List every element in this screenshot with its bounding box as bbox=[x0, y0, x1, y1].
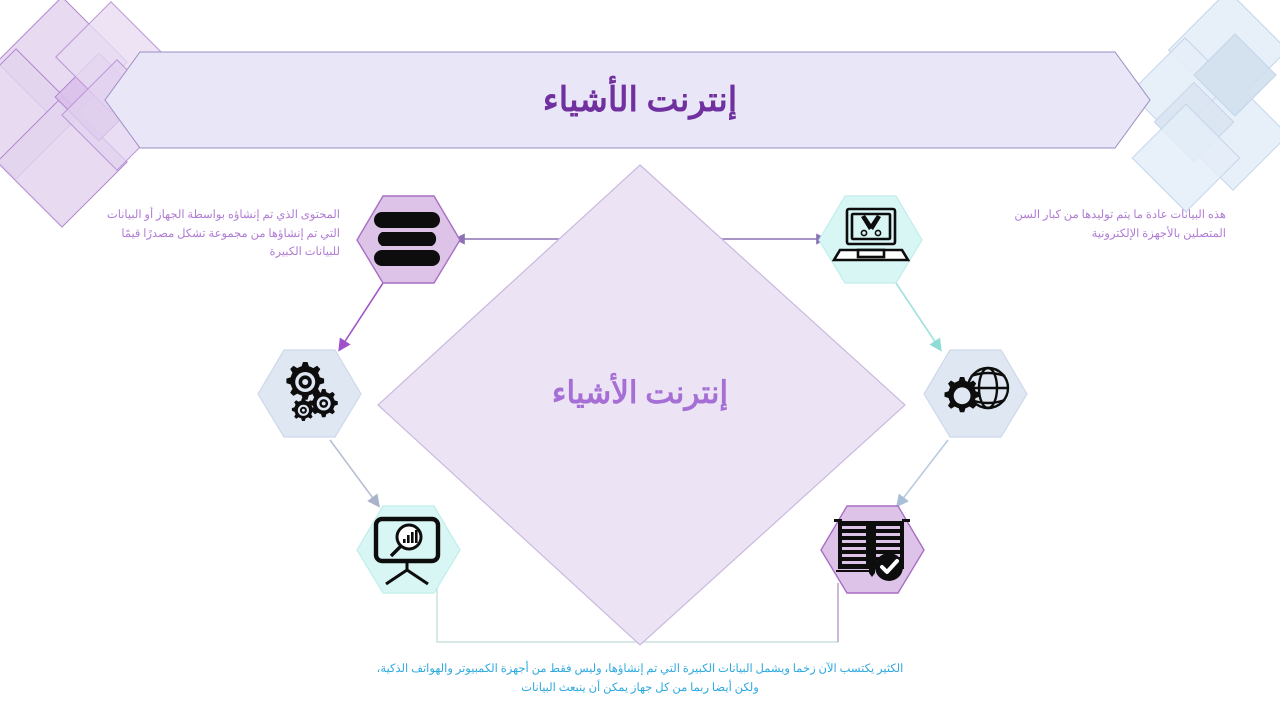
node-database[interactable] bbox=[357, 196, 460, 283]
node-gear-globe[interactable] bbox=[924, 350, 1027, 437]
note-bottom-line-2: ولكن أيضا ربما من كل جهاز يمكن أن ينبعث … bbox=[290, 679, 990, 698]
note-right-line-1: هذه البيانات عادة ما يتم توليدها من كبار… bbox=[932, 206, 1226, 225]
gear-globe-icon-gear bbox=[945, 377, 980, 412]
note-right: هذه البيانات عادة ما يتم توليدها من كبار… bbox=[932, 206, 1226, 243]
note-left: المحتوى الذي تم إنشاؤه بواسطة الجهاز أو … bbox=[28, 206, 340, 262]
title-banner: إنترنت الأشياء bbox=[140, 52, 1140, 148]
connector-database-to-gears bbox=[340, 283, 383, 349]
node-document-check[interactable] bbox=[821, 506, 924, 593]
center-diamond-label: إنترنت الأشياء bbox=[440, 375, 840, 411]
node-gears[interactable] bbox=[258, 350, 361, 437]
note-right-line-2: المتصلين بالأجهزة الإلكترونية bbox=[932, 225, 1226, 244]
note-bottom: الكثير يكتسب الآن زخما ويشمل البيانات ال… bbox=[290, 660, 990, 698]
connector-laptop-to-gear-globe bbox=[896, 283, 940, 349]
connector-gears-to-presentation bbox=[330, 440, 378, 505]
note-left-line-2: التي تم إنشاؤها من مجموعة تشكل مصدرًا قي… bbox=[28, 225, 340, 244]
slide-canvas: إنترنت الأشياء إنترنت الأشياء المحتوى ال… bbox=[0, 0, 1280, 720]
connector-gear-globe-to-document bbox=[898, 440, 948, 505]
database-icon bbox=[374, 212, 440, 266]
node-presentation-chart[interactable] bbox=[357, 506, 460, 593]
page-title: إنترنت الأشياء bbox=[543, 80, 738, 120]
node-laptop-tools[interactable] bbox=[819, 196, 922, 283]
decoration-diamonds-right bbox=[1130, 0, 1280, 212]
note-bottom-line-1: الكثير يكتسب الآن زخما ويشمل البيانات ال… bbox=[290, 660, 990, 679]
document-check-icon bbox=[834, 519, 910, 581]
note-left-line-3: للبيانات الكبيرة bbox=[28, 243, 340, 262]
note-left-line-1: المحتوى الذي تم إنشاؤه بواسطة الجهاز أو … bbox=[28, 206, 340, 225]
